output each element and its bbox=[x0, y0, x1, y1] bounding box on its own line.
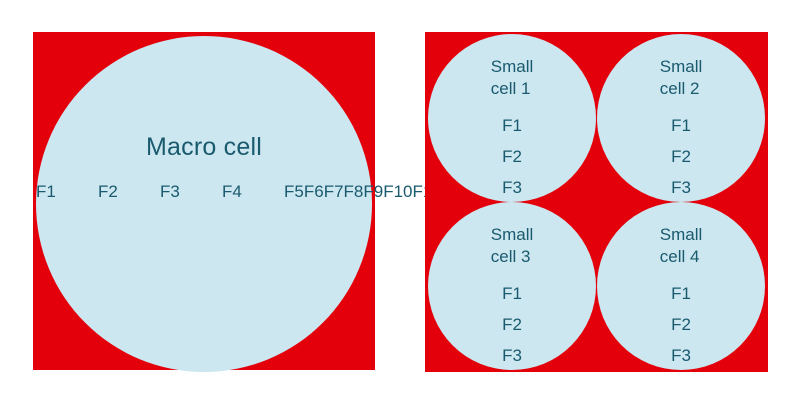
frequency-label: F1 bbox=[597, 278, 765, 309]
small-cell-1-circle: Small cell 1 F1 F2 F3 bbox=[428, 34, 596, 202]
frequency-label: F6 bbox=[304, 177, 324, 207]
frequency-label: F7 bbox=[324, 177, 344, 207]
frequency-label: F5 bbox=[284, 177, 304, 207]
frequency-label: F4 bbox=[222, 177, 284, 207]
small-cell-1-title: Small cell 1 bbox=[491, 56, 534, 100]
small-cell-2-frequency-list: F1 F2 F3 bbox=[597, 110, 765, 203]
small-cell-title-line-2: cell 4 bbox=[660, 246, 703, 268]
frequency-label: F3 bbox=[160, 177, 222, 207]
small-cell-1-content: Small cell 1 F1 F2 F3 bbox=[428, 56, 596, 203]
frequency-label: F3 bbox=[597, 340, 765, 371]
small-cell-4-circle: Small cell 4 F1 F2 F3 bbox=[597, 202, 765, 370]
frequency-label: F2 bbox=[428, 309, 596, 340]
small-cell-3-circle: Small cell 3 F1 F2 F3 bbox=[428, 202, 596, 370]
frequency-label: F1 bbox=[428, 110, 596, 141]
small-cell-4-title: Small cell 4 bbox=[660, 224, 703, 268]
frequency-label: F8 bbox=[344, 177, 364, 207]
small-cell-2-title: Small cell 2 bbox=[660, 56, 703, 100]
small-cell-title-line-2: cell 1 bbox=[491, 78, 534, 100]
macro-cell-panel: Macro cell F1 F2 F3 F4 F5 F6 F7 F8 F9 F1… bbox=[33, 32, 375, 370]
small-cell-title-line-2: cell 3 bbox=[491, 246, 534, 268]
macro-cell-title: Macro cell bbox=[36, 132, 372, 162]
small-cell-2-circle: Small cell 2 F1 F2 F3 bbox=[597, 34, 765, 202]
small-cell-1-frequency-list: F1 F2 F3 bbox=[428, 110, 596, 203]
small-cell-2-content: Small cell 2 F1 F2 F3 bbox=[597, 56, 765, 203]
small-cell-title-line-2: cell 2 bbox=[660, 78, 703, 100]
small-cell-title-line-1: Small bbox=[660, 224, 703, 246]
frequency-label: F3 bbox=[428, 340, 596, 371]
frequency-label: F2 bbox=[98, 177, 160, 207]
small-cells-panel: Small cell 1 F1 F2 F3 Small cell 2 F1 F2 bbox=[425, 32, 768, 372]
macro-frequency-grid: F1 F2 F3 F4 F5 F6 F7 F8 F9 F10 F11 F12 bbox=[36, 177, 470, 207]
small-cell-4-content: Small cell 4 F1 F2 F3 bbox=[597, 224, 765, 371]
small-cell-title-line-1: Small bbox=[491, 56, 534, 78]
small-cell-title-line-1: Small bbox=[660, 56, 703, 78]
frequency-label: F1 bbox=[428, 278, 596, 309]
frequency-label: F1 bbox=[597, 110, 765, 141]
frequency-label: F3 bbox=[597, 172, 765, 203]
frequency-label: F9 bbox=[363, 177, 383, 207]
macro-cell-content: Macro cell F1 F2 F3 F4 F5 F6 F7 F8 F9 F1… bbox=[36, 132, 372, 207]
frequency-label: F2 bbox=[428, 141, 596, 172]
small-cell-title-line-1: Small bbox=[491, 224, 534, 246]
small-cell-4-frequency-list: F1 F2 F3 bbox=[597, 278, 765, 371]
frequency-label: F2 bbox=[597, 141, 765, 172]
frequency-label: F3 bbox=[428, 172, 596, 203]
frequency-label: F2 bbox=[597, 309, 765, 340]
frequency-label: F10 bbox=[383, 177, 412, 207]
frequency-label: F1 bbox=[36, 177, 98, 207]
small-cell-3-content: Small cell 3 F1 F2 F3 bbox=[428, 224, 596, 371]
small-cell-3-title: Small cell 3 bbox=[491, 224, 534, 268]
cell-frequency-diagram: Macro cell F1 F2 F3 F4 F5 F6 F7 F8 F9 F1… bbox=[0, 0, 800, 400]
small-cell-3-frequency-list: F1 F2 F3 bbox=[428, 278, 596, 371]
macro-cell-circle: Macro cell F1 F2 F3 F4 F5 F6 F7 F8 F9 F1… bbox=[36, 36, 372, 372]
